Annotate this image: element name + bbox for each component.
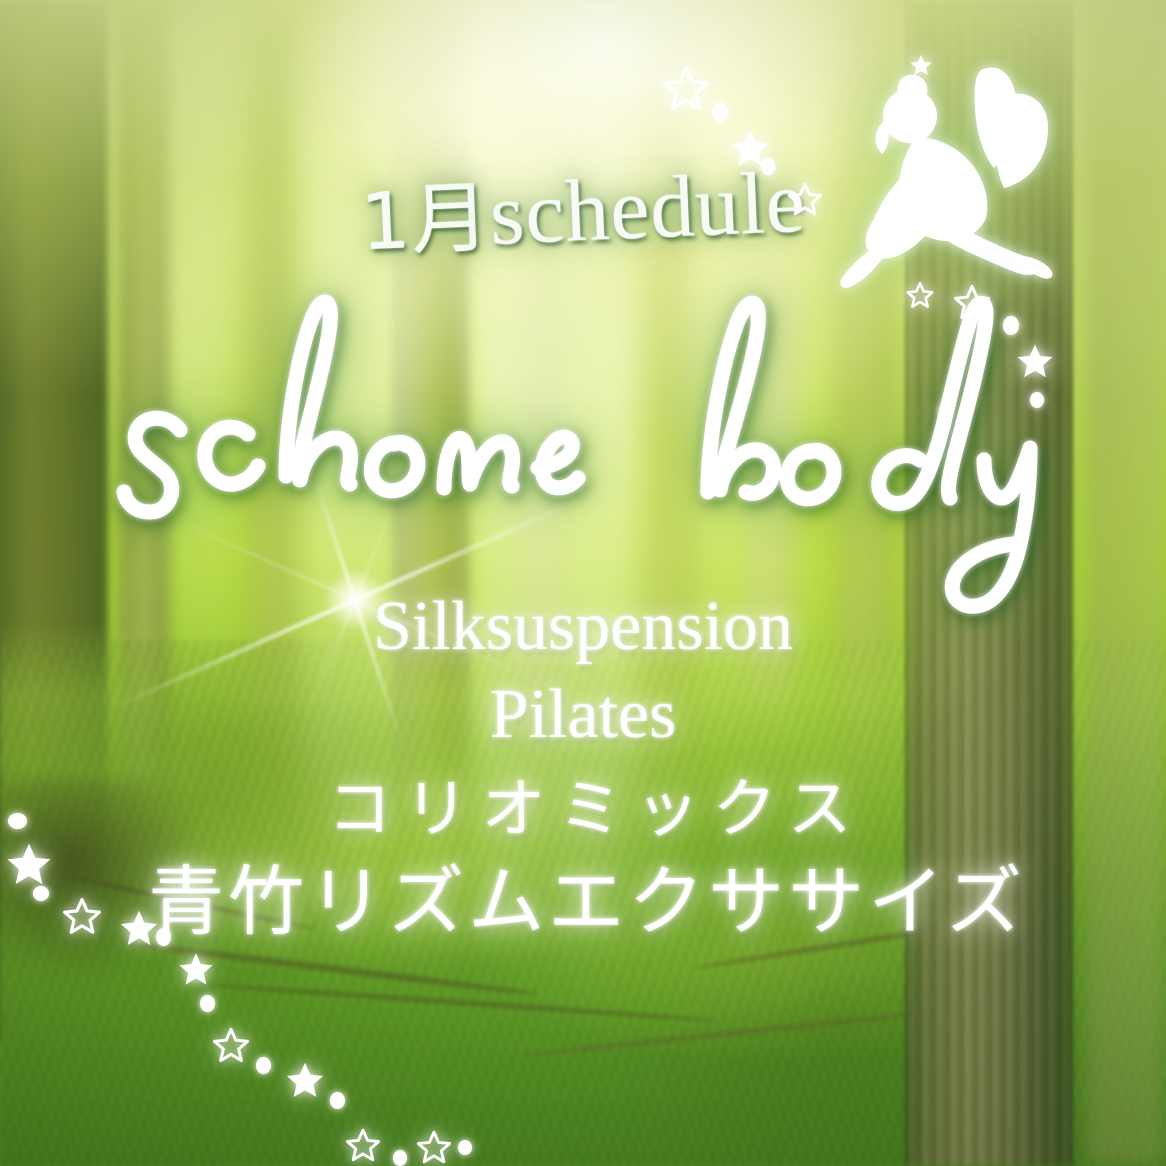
star-outline-icon [61, 895, 103, 937]
dot-icon [939, 405, 949, 417]
star-filled-icon [283, 1058, 327, 1102]
star-filled-icon [3, 838, 55, 890]
star-outline-icon [344, 1126, 382, 1164]
dot-icon [1030, 392, 1044, 408]
brand-word-body [708, 303, 1030, 606]
brand-word-schone [124, 302, 578, 512]
dot-icon [330, 1092, 345, 1109]
star-outline-icon [660, 62, 712, 114]
dot-icon [458, 1140, 472, 1155]
dot-icon [200, 995, 215, 1012]
star-outline-icon [905, 280, 935, 310]
star-outline-icon [786, 180, 824, 218]
dot-icon [1003, 316, 1019, 335]
star-filled-icon [176, 949, 216, 989]
service-item-silksuspension: Silksuspension [0, 592, 1166, 662]
star-filled-icon [1014, 340, 1056, 382]
poster-canvas: 1月schedule [0, 0, 1166, 1166]
star-outline-icon [415, 1128, 453, 1166]
dot-icon [761, 158, 775, 175]
dot-icon [256, 1057, 271, 1074]
dot-icon [713, 103, 728, 122]
dot-icon [156, 928, 171, 946]
star-filled-icon [117, 906, 161, 950]
star-outline-icon [952, 282, 992, 322]
service-item-choreo-mix: コリオミックス [0, 778, 1166, 842]
star-outline-icon [211, 1025, 251, 1065]
service-item-pilates: Pilates [0, 680, 1166, 750]
month-label: 1月 [359, 173, 492, 268]
service-item-bamboo-rhythm-exercise: 青竹リズムエクササイズ [0, 864, 1166, 940]
dot-icon [393, 1150, 407, 1166]
dot-icon [8, 813, 27, 829]
dot-icon [33, 886, 49, 901]
star-filled-icon [908, 52, 934, 78]
